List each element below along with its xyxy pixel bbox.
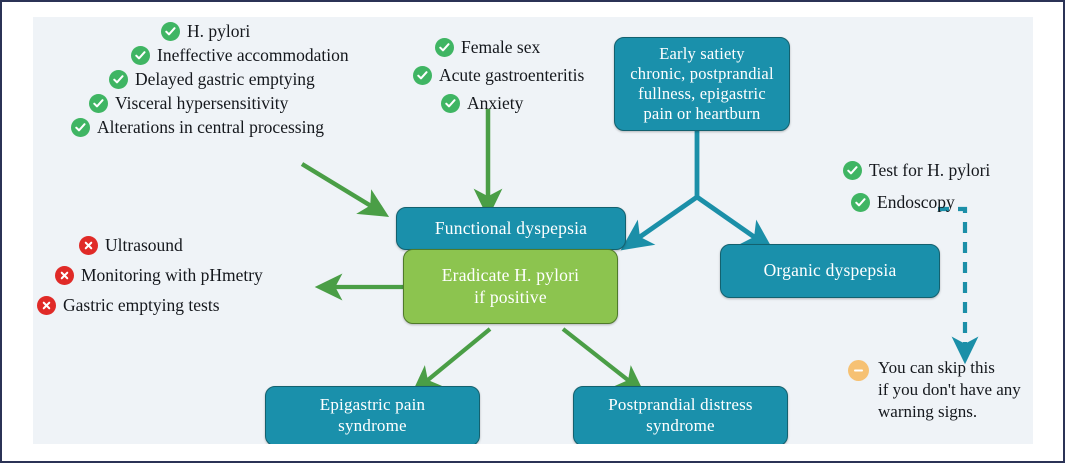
check-icon (435, 38, 454, 57)
functional-dyspepsia-label: Functional dyspepsia (435, 218, 587, 239)
not-recommended-list: Ultrasound Monitoring with pHmetry Gastr… (37, 235, 263, 319)
arrow-eradicate-to-postprandial (563, 329, 633, 384)
pathophysiology-list: H. pylori Ineffective accommodation Dela… (71, 21, 349, 141)
list-item: Acute gastroenteritis (413, 65, 584, 86)
list-item-label: Visceral hypersensitivity (115, 93, 288, 114)
list-item-label: Female sex (461, 37, 540, 58)
check-icon (441, 94, 460, 113)
eradicate-line-2: if positive (442, 287, 579, 308)
arrow-symptoms-to-organic (697, 197, 760, 241)
figure-frame: H. pylori Ineffective accommodation Dela… (0, 0, 1065, 463)
symptoms-line-2: chronic, postprandial (630, 64, 774, 84)
workup-list: Test for H. pylori Endoscopy (843, 160, 990, 216)
cross-icon (37, 296, 56, 315)
minus-icon (848, 360, 869, 381)
check-icon (413, 66, 432, 85)
check-icon (851, 193, 870, 212)
list-item: Monitoring with pHmetry (55, 265, 263, 286)
list-item: Alterations in central processing (71, 117, 349, 138)
skip-note-line-2: if you don't have any (878, 379, 1021, 401)
organic-dyspepsia-node[interactable]: Organic dyspepsia (720, 244, 940, 298)
eradicate-h-pylori-node[interactable]: Eradicate H. pylori if positive (403, 249, 618, 324)
postprandial-distress-syndrome-node[interactable]: Postprandial distress syndrome (573, 386, 788, 444)
list-item-label: Delayed gastric emptying (135, 69, 315, 90)
diagram-canvas: H. pylori Ineffective accommodation Dela… (33, 17, 1033, 444)
symptoms-line-4: pain or heartburn (630, 104, 774, 124)
symptoms-line-1: Early satiety (630, 44, 774, 64)
list-item: Female sex (435, 37, 584, 58)
cross-icon (55, 266, 74, 285)
list-item: Anxiety (441, 93, 584, 114)
list-item-label: Test for H. pylori (869, 160, 990, 181)
check-icon (131, 46, 150, 65)
check-icon (89, 94, 108, 113)
list-item-label: Alterations in central processing (97, 117, 324, 138)
list-item-label: Anxiety (467, 93, 523, 114)
cross-icon (79, 236, 98, 255)
skip-warning-note: You can skip this if you don't have any … (848, 357, 1021, 422)
list-item-label: Ultrasound (105, 235, 183, 256)
list-item: Ultrasound (79, 235, 263, 256)
list-item: Test for H. pylori (843, 160, 990, 181)
postprandial-line-2: syndrome (608, 416, 752, 437)
arrow-symptoms-to-functional (634, 197, 697, 241)
check-icon (843, 161, 862, 180)
list-item: Ineffective accommodation (131, 45, 349, 66)
epigastric-line-2: syndrome (320, 416, 425, 437)
list-item-label: Ineffective accommodation (157, 45, 349, 66)
list-item-label: Acute gastroenteritis (439, 65, 584, 86)
check-icon (109, 70, 128, 89)
epigastric-pain-syndrome-node[interactable]: Epigastric pain syndrome (265, 386, 480, 444)
symptoms-line-3: fullness, epigastric (630, 84, 774, 104)
list-item: Delayed gastric emptying (109, 69, 349, 90)
list-item-label: Gastric emptying tests (63, 295, 220, 316)
check-icon (161, 22, 180, 41)
check-icon (71, 118, 90, 137)
arrow-eradicate-to-epigastric (423, 329, 490, 384)
eradicate-line-1: Eradicate H. pylori (442, 265, 579, 286)
symptoms-node[interactable]: Early satiety chronic, postprandial full… (614, 37, 790, 131)
list-item-label: Monitoring with pHmetry (81, 265, 263, 286)
skip-note-line-1: You can skip this (878, 357, 1021, 379)
list-item: Gastric emptying tests (37, 295, 263, 316)
epigastric-line-1: Epigastric pain (320, 395, 425, 416)
arrow-workup-to-skip-note (938, 209, 965, 350)
organic-dyspepsia-label: Organic dyspepsia (764, 260, 897, 281)
postprandial-line-1: Postprandial distress (608, 395, 752, 416)
functional-dyspepsia-node[interactable]: Functional dyspepsia (396, 207, 626, 250)
associations-list: Female sex Acute gastroenteritis Anxiety (405, 37, 584, 117)
list-item-label: Endoscopy (877, 192, 955, 213)
list-item: Endoscopy (851, 192, 990, 213)
list-item: H. pylori (161, 21, 349, 42)
arrow-riskfactors-to-functional (302, 164, 376, 209)
skip-note-line-3: warning signs. (878, 401, 1021, 423)
list-item: Visceral hypersensitivity (89, 93, 349, 114)
list-item-label: H. pylori (187, 21, 250, 42)
